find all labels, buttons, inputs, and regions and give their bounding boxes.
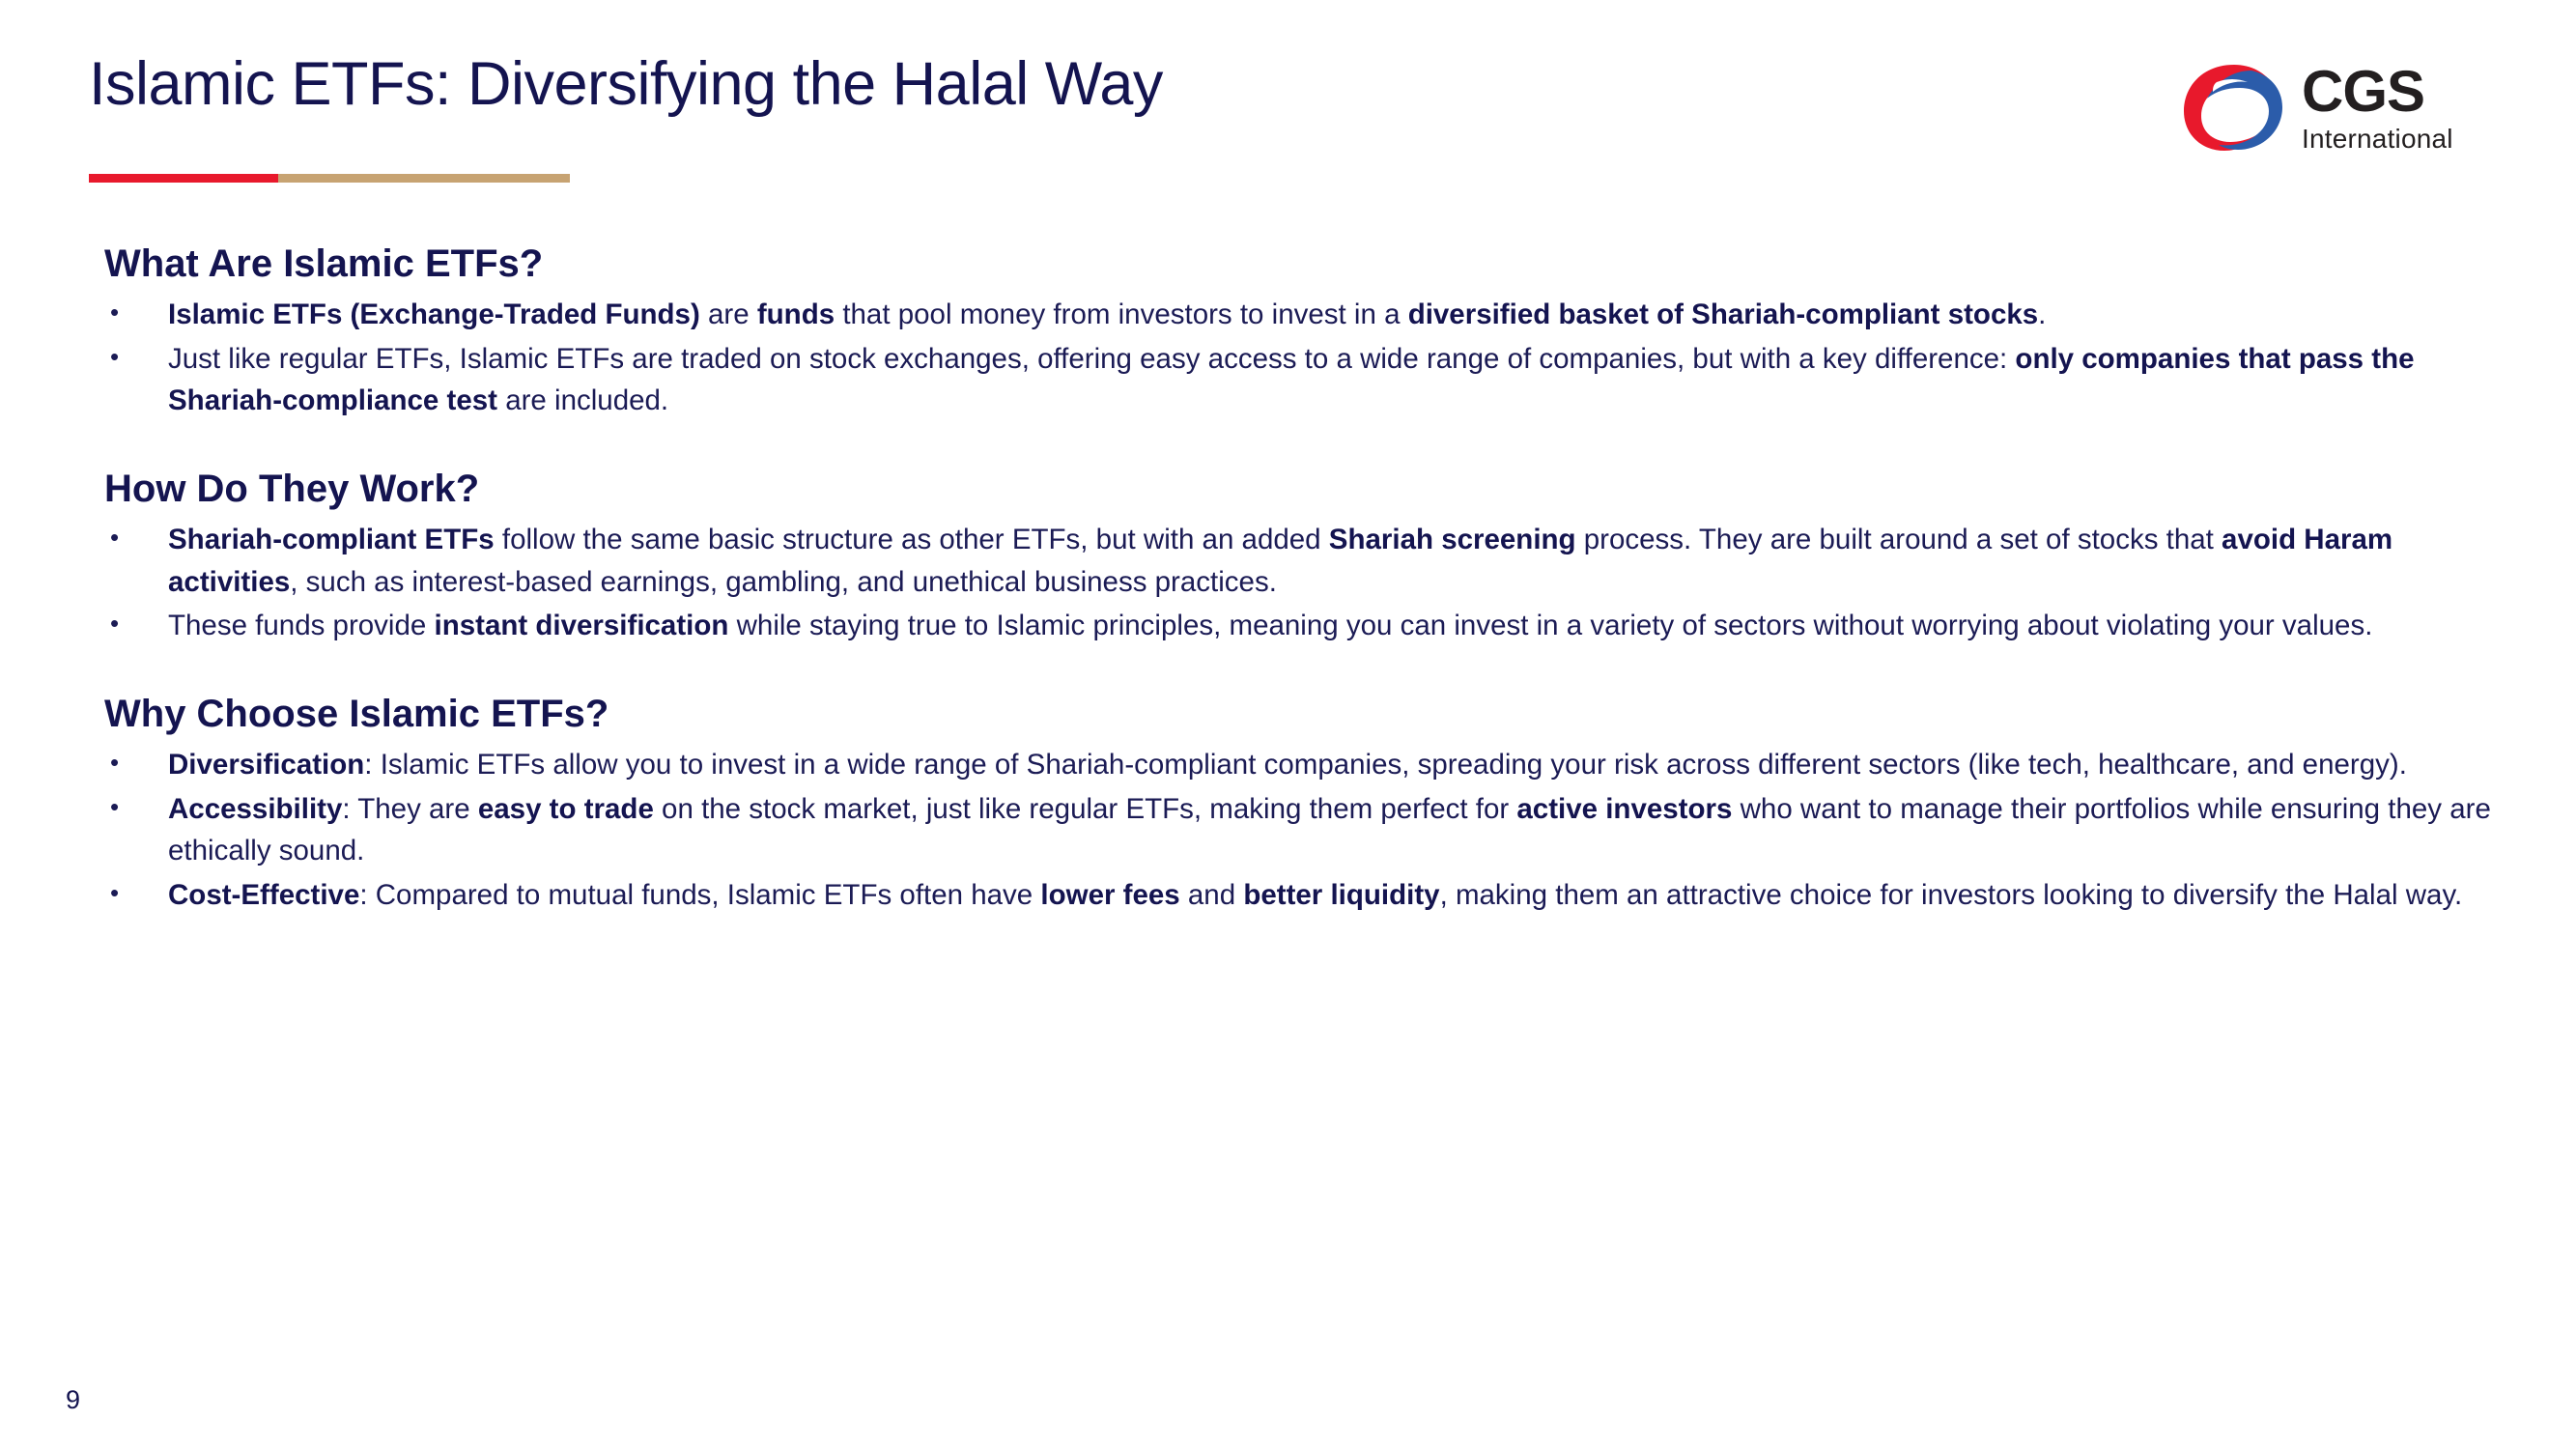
section-how-do-they-work: How Do They Work? Shariah-compliant ETFs… — [104, 465, 2519, 647]
page-number: 9 — [66, 1385, 80, 1415]
list-item: Diversification: Islamic ETFs allow you … — [104, 744, 2519, 786]
logo-name: CGS — [2302, 63, 2424, 121]
logo-subtitle: International — [2302, 126, 2453, 153]
bullet-list: Shariah-compliant ETFs follow the same b… — [104, 519, 2519, 647]
section-heading: What Are Islamic ETFs? — [104, 240, 2519, 288]
title-rule-tan-segment — [278, 174, 570, 183]
section-what-are-islamic-etfs: What Are Islamic ETFs? Islamic ETFs (Exc… — [104, 240, 2519, 422]
list-item: Shariah-compliant ETFs follow the same b… — [104, 519, 2519, 603]
cgs-swirl-icon — [2180, 59, 2288, 156]
title-block: Islamic ETFs: Diversifying the Halal Way — [89, 50, 1924, 119]
section-heading: Why Choose Islamic ETFs? — [104, 690, 2519, 738]
list-item: Just like regular ETFs, Islamic ETFs are… — [104, 338, 2519, 422]
title-underline-rule — [89, 174, 570, 183]
section-heading: How Do They Work? — [104, 465, 2519, 513]
cgs-international-logo: CGS International — [2180, 53, 2479, 161]
list-item: Cost-Effective: Compared to mutual funds… — [104, 874, 2519, 917]
slide-canvas: Islamic ETFs: Diversifying the Halal Way… — [0, 0, 2576, 1449]
section-why-choose-islamic-etfs: Why Choose Islamic ETFs? Diversification… — [104, 690, 2519, 917]
bullet-list: Diversification: Islamic ETFs allow you … — [104, 744, 2519, 917]
list-item: Accessibility: They are easy to trade on… — [104, 788, 2519, 872]
title-rule-red-segment — [89, 174, 278, 183]
page-title: Islamic ETFs: Diversifying the Halal Way — [89, 50, 1924, 119]
list-item: These funds provide instant diversificat… — [104, 605, 2519, 647]
bullet-list: Islamic ETFs (Exchange-Traded Funds) are… — [104, 294, 2519, 422]
slide-content: What Are Islamic ETFs? Islamic ETFs (Exc… — [104, 240, 2519, 919]
list-item: Islamic ETFs (Exchange-Traded Funds) are… — [104, 294, 2519, 336]
logo-wordmark: CGS International — [2302, 63, 2453, 153]
